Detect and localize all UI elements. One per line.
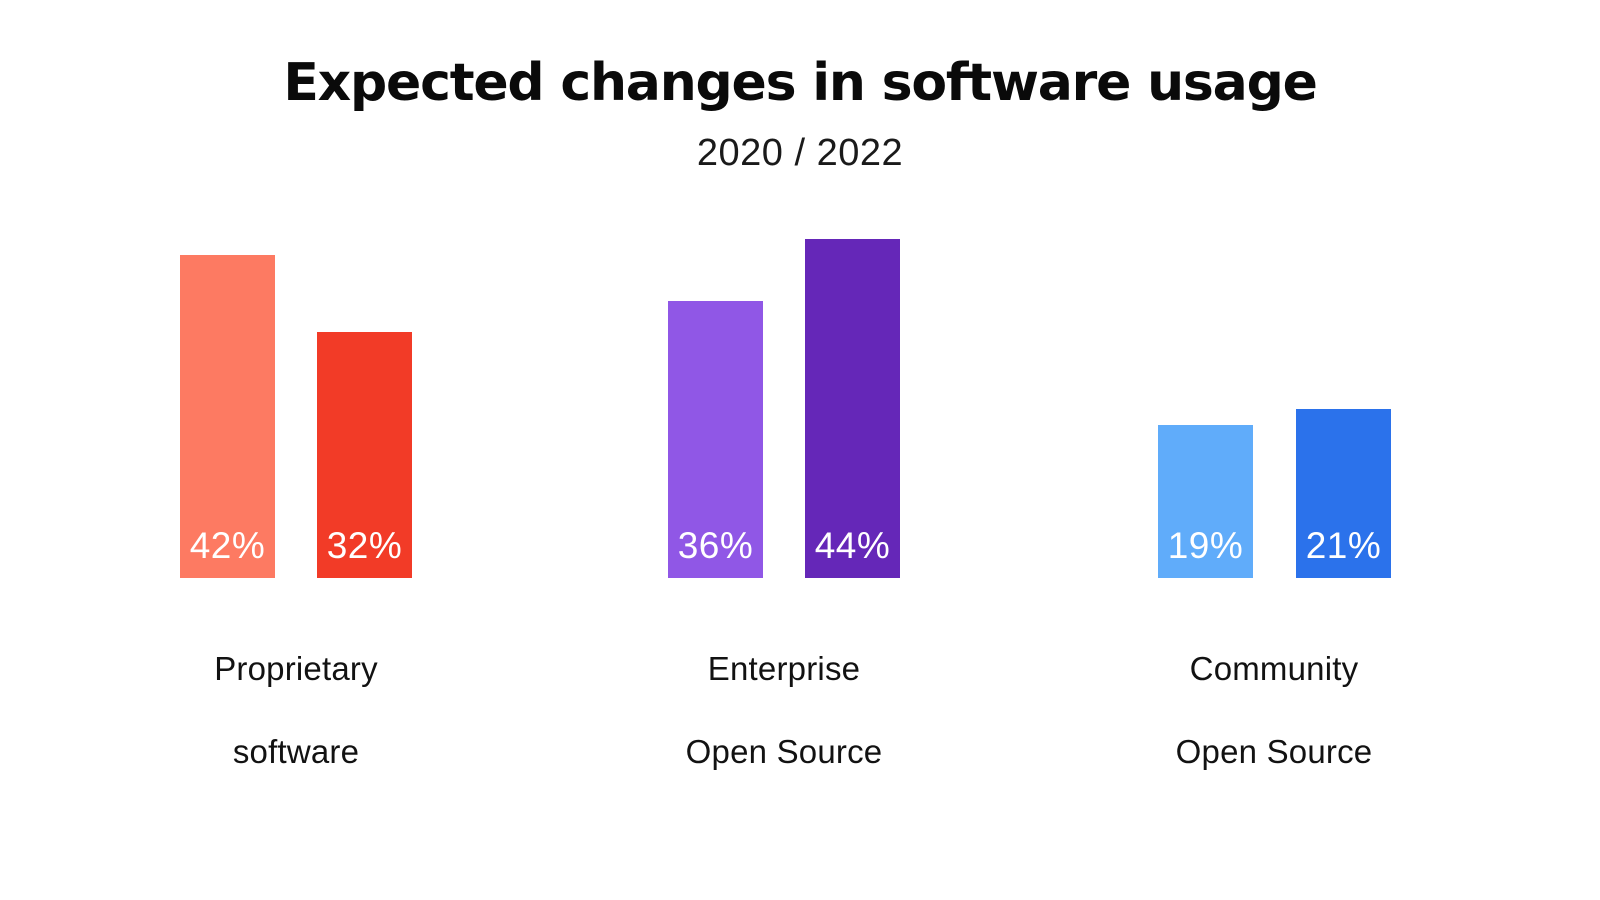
chart-canvas: Expected changes in software usage 2020 … [0,0,1600,900]
bar-value-label: 36% [668,527,763,564]
category-label-line: software [96,731,496,773]
plot-area: 42% 32% 36% 44% 19% 21% Proprietary soft… [0,0,1600,900]
category-label-line: Community [1074,648,1474,690]
bar-enterprise-2022[interactable]: 44% [805,239,900,578]
bar-value-label: 42% [180,527,275,564]
bar-value-label: 19% [1158,527,1253,564]
category-label-proprietary: Proprietary software [96,606,496,814]
bar-value-label: 21% [1296,527,1391,564]
bar-community-2022[interactable]: 21% [1296,409,1391,578]
bar-community-2020[interactable]: 19% [1158,425,1253,578]
bar-proprietary-2022[interactable]: 32% [317,332,412,578]
category-label-enterprise: Enterprise Open Source [584,606,984,814]
bar-enterprise-2020[interactable]: 36% [668,301,763,578]
category-label-line: Proprietary [96,648,496,690]
category-label-line: Open Source [584,731,984,773]
bar-proprietary-2020[interactable]: 42% [180,255,275,578]
category-label-line: Enterprise [584,648,984,690]
bar-value-label: 32% [317,527,412,564]
category-label-community: Community Open Source [1074,606,1474,814]
bar-value-label: 44% [805,527,900,564]
category-label-line: Open Source [1074,731,1474,773]
